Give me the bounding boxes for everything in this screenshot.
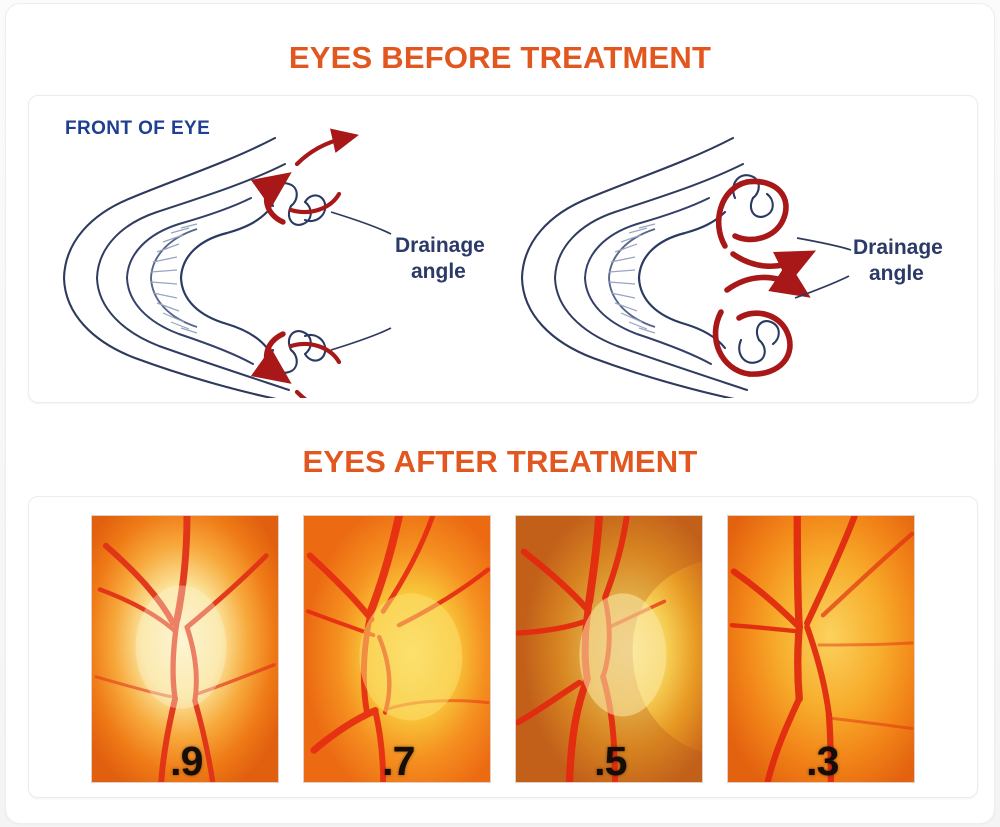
fundus-photo-strip: .9 [29, 515, 977, 783]
fundus-figure: .3 [727, 515, 915, 783]
card-after-treatment: .9 [28, 496, 978, 798]
left-eye-diagram: Drainage angle [39, 102, 499, 398]
fundus-figure: .7 [303, 515, 491, 783]
right-eye-diagram: Drainage angle [497, 102, 957, 398]
drainage-angle-label-line1: Drainage [395, 234, 485, 257]
fundus-photo-4 [727, 515, 915, 783]
drainage-angle-label-line2: angle [411, 260, 466, 283]
drainage-angle-label-line1: Drainage [853, 236, 943, 259]
page-frame: EYES BEFORE TREATMENT FRONT OF EYE [6, 4, 994, 823]
drainage-angle-label-line2: angle [869, 262, 924, 285]
fundus-photo-3 [515, 515, 703, 783]
card-before-treatment: FRONT OF EYE [28, 95, 978, 403]
fundus-photo-1 [91, 515, 279, 783]
fundus-photo-2 [303, 515, 491, 783]
fundus-figure: .5 [515, 515, 703, 783]
section-title-before: EYES BEFORE TREATMENT [6, 40, 994, 76]
page-root: EYES BEFORE TREATMENT FRONT OF EYE [0, 0, 1000, 827]
fundus-figure: .9 [91, 515, 279, 783]
section-title-after: EYES AFTER TREATMENT [6, 444, 994, 480]
